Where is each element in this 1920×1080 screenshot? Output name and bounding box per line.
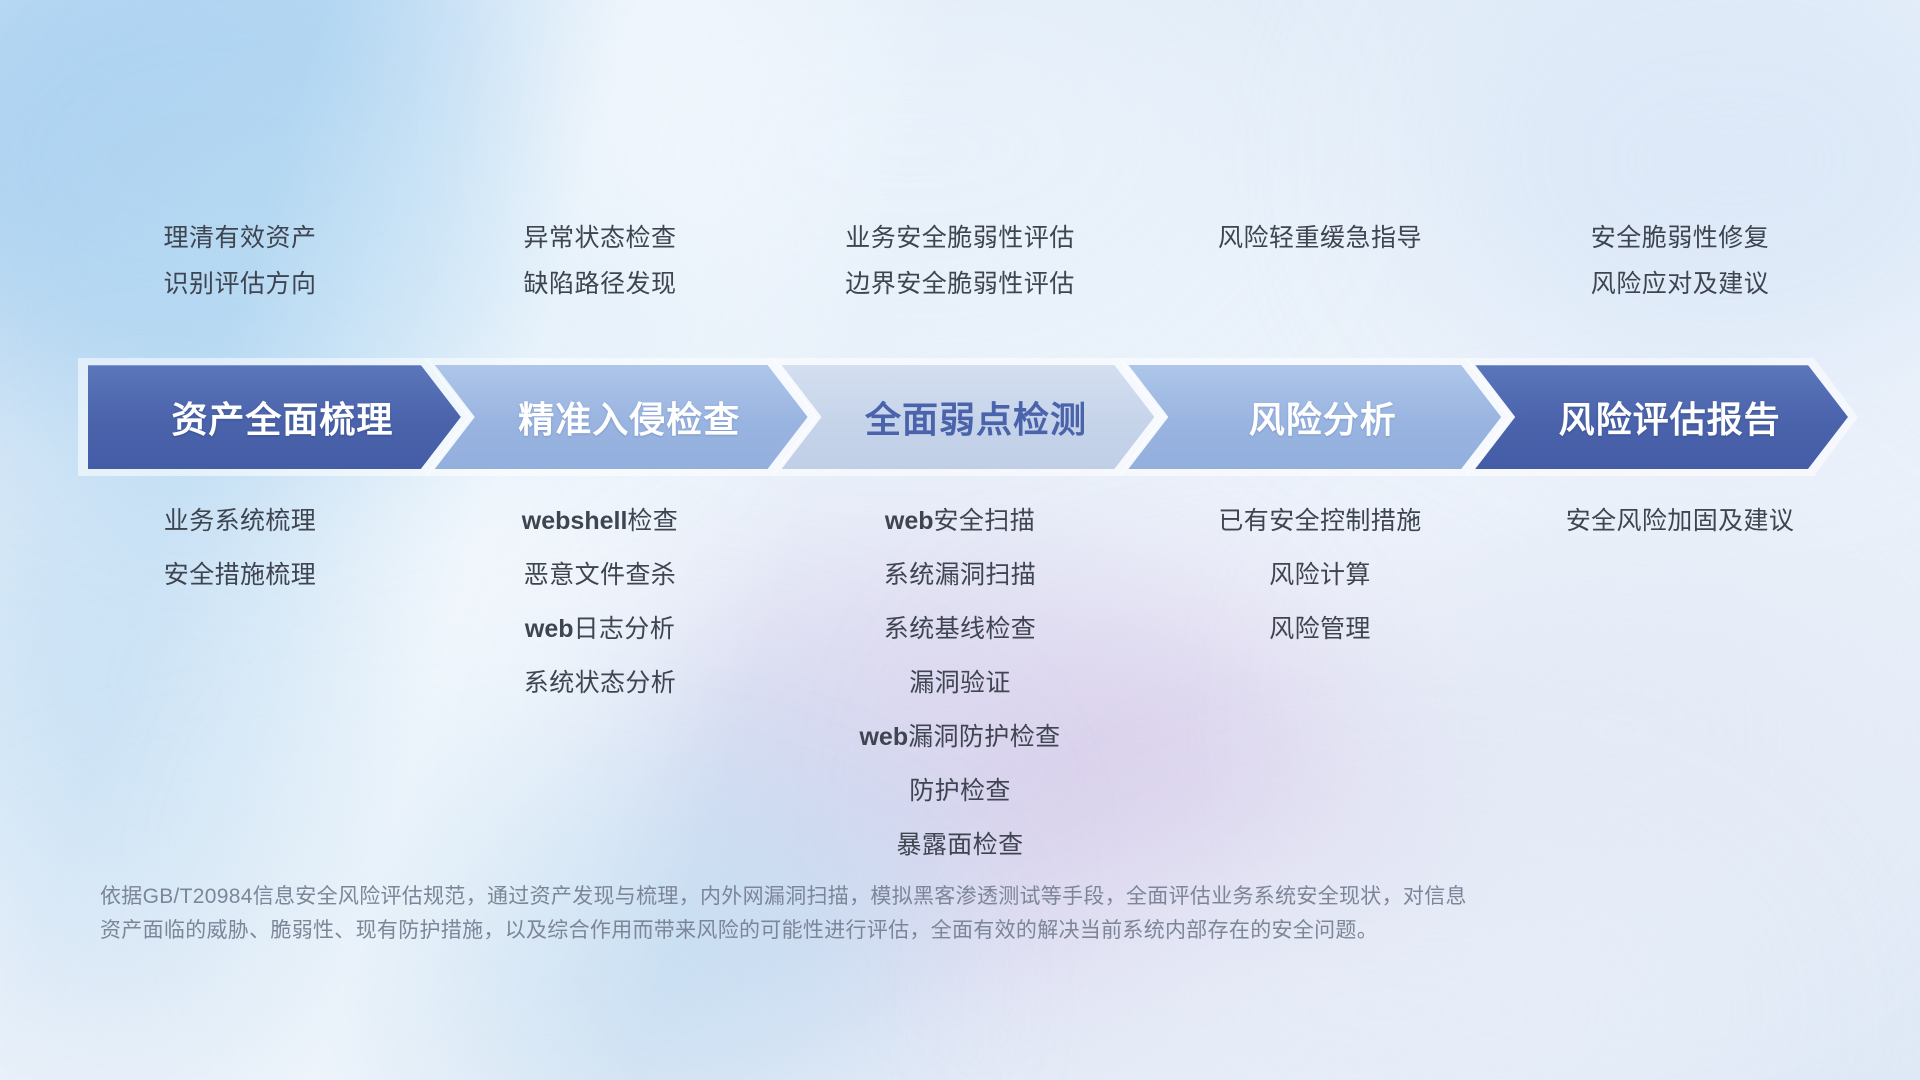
bottom-label-cjk: 漏洞验证 — [909, 669, 1011, 697]
bottom-label-item: 已有安全控制措施 — [1218, 506, 1421, 536]
bottom-label-cjk: 安全措施梳理 — [164, 561, 316, 589]
bottom-label-item: 漏洞验证 — [909, 668, 1011, 698]
bottom-label-column: 业务系统梳理安全措施梳理 — [60, 506, 420, 860]
bottom-label-cjk: 已有安全控制措施 — [1218, 507, 1421, 535]
stage-chevron-2[interactable]: 精准入侵检查 — [435, 365, 808, 469]
top-label-row: 理清有效资产识别评估方向异常状态检查缺陷路径发现业务安全脆弱性评估边界安全脆弱性… — [60, 222, 1860, 300]
bottom-label-cjk: 业务系统梳理 — [164, 507, 316, 535]
bottom-label-column: web安全扫描系统漏洞扫描系统基线检查漏洞验证web漏洞防护检查防护检查暴露面检… — [780, 506, 1140, 860]
bottom-label-column: 已有安全控制措施风险计算风险管理 — [1140, 506, 1500, 860]
footer-line-2: 资产面临的威胁、脆弱性、现有防护措施，以及综合作用而带来风险的可能性进行评估，全… — [100, 914, 1620, 948]
bottom-label-item: 系统基线检查 — [884, 614, 1036, 644]
stage-label: 风险分析 — [1249, 391, 1397, 443]
footer-description: 依据GB/T20984信息安全风险评估规范，通过资产发现与梳理，内外网漏洞扫描，… — [100, 880, 1620, 948]
bottom-label-cjk: 防护检查 — [909, 777, 1011, 805]
bottom-label-cjk: 风险管理 — [1269, 615, 1371, 643]
top-label-column: 安全脆弱性修复风险应对及建议 — [1500, 222, 1860, 300]
top-label-item: 业务安全脆弱性评估 — [845, 222, 1075, 254]
stage-chevron-band: 资产全面梳理精准入侵检查全面弱点检测风险分析风险评估报告 — [88, 365, 1848, 469]
top-label-item: 识别评估方向 — [163, 268, 316, 300]
bottom-label-cjk: 系统状态分析 — [524, 669, 676, 697]
bottom-label-item: 风险计算 — [1269, 560, 1371, 590]
bottom-label-item: 业务系统梳理 — [164, 506, 316, 536]
bottom-label-item: webshell检查 — [522, 506, 678, 536]
top-label-item: 风险应对及建议 — [1591, 268, 1770, 300]
bottom-label-item: web日志分析 — [525, 614, 675, 644]
bottom-label-cjk: 日志分析 — [574, 615, 676, 643]
top-label-column: 理清有效资产识别评估方向 — [60, 222, 420, 300]
bottom-label-cjk: 安全风险加固及建议 — [1566, 507, 1795, 535]
stage-chevron-4[interactable]: 风险分析 — [1128, 365, 1501, 469]
stage-chevron-1[interactable]: 资产全面梳理 — [88, 365, 461, 469]
bottom-label-cjk: 检查 — [627, 507, 678, 535]
bottom-label-cjk: 风险计算 — [1269, 561, 1371, 589]
top-label-item: 风险轻重缓急指导 — [1218, 222, 1422, 254]
bottom-label-cjk: 恶意文件查杀 — [524, 561, 676, 589]
bottom-label-item: 安全风险加固及建议 — [1566, 506, 1795, 536]
stage-label: 全面弱点检测 — [865, 391, 1087, 443]
bottom-label-item: 暴露面检查 — [896, 830, 1023, 860]
bottom-label-item: 恶意文件查杀 — [524, 560, 676, 590]
stage-chevron-5[interactable]: 风险评估报告 — [1475, 365, 1848, 469]
bottom-label-column: 安全风险加固及建议 — [1500, 506, 1860, 860]
top-label-item: 边界安全脆弱性评估 — [845, 268, 1075, 300]
footer-line-1: 依据GB/T20984信息安全风险评估规范，通过资产发现与梳理，内外网漏洞扫描，… — [100, 880, 1620, 914]
process-flow-diagram: 理清有效资产识别评估方向异常状态检查缺陷路径发现业务安全脆弱性评估边界安全脆弱性… — [0, 0, 1920, 1080]
bottom-label-cjk: 暴露面检查 — [896, 831, 1023, 859]
bottom-label-latin: web — [859, 723, 908, 751]
bottom-label-item: web漏洞防护检查 — [859, 722, 1060, 752]
bottom-label-item: 防护检查 — [909, 776, 1011, 806]
bottom-label-column: webshell检查恶意文件查杀web日志分析系统状态分析 — [420, 506, 780, 860]
top-label-column: 业务安全脆弱性评估边界安全脆弱性评估 — [780, 222, 1140, 300]
stage-chevron-3[interactable]: 全面弱点检测 — [782, 365, 1155, 469]
top-label-column: 异常状态检查缺陷路径发现 — [420, 222, 780, 300]
stage-label: 风险评估报告 — [1559, 391, 1781, 443]
top-label-item: 异常状态检查 — [523, 222, 676, 254]
bottom-label-item: 风险管理 — [1269, 614, 1371, 644]
bottom-label-latin: web — [885, 507, 934, 535]
top-label-item: 缺陷路径发现 — [523, 268, 676, 300]
bottom-label-item: web安全扫描 — [885, 506, 1035, 536]
bottom-label-row: 业务系统梳理安全措施梳理webshell检查恶意文件查杀web日志分析系统状态分… — [60, 506, 1860, 860]
bottom-label-item: 安全措施梳理 — [164, 560, 316, 590]
stage-label: 精准入侵检查 — [518, 391, 740, 443]
bottom-label-latin: webshell — [522, 507, 628, 535]
bottom-label-cjk: 漏洞防护检查 — [908, 723, 1060, 751]
bottom-label-item: 系统状态分析 — [524, 668, 676, 698]
top-label-column: 风险轻重缓急指导 — [1140, 222, 1500, 300]
top-label-item: 理清有效资产 — [163, 222, 316, 254]
bottom-label-cjk: 安全扫描 — [934, 507, 1036, 535]
bottom-label-cjk: 系统漏洞扫描 — [884, 561, 1036, 589]
stage-label: 资产全面梳理 — [171, 391, 393, 443]
bottom-label-item: 系统漏洞扫描 — [884, 560, 1036, 590]
bottom-label-latin: web — [525, 615, 574, 643]
top-label-item: 安全脆弱性修复 — [1591, 222, 1770, 254]
bottom-label-cjk: 系统基线检查 — [884, 615, 1036, 643]
